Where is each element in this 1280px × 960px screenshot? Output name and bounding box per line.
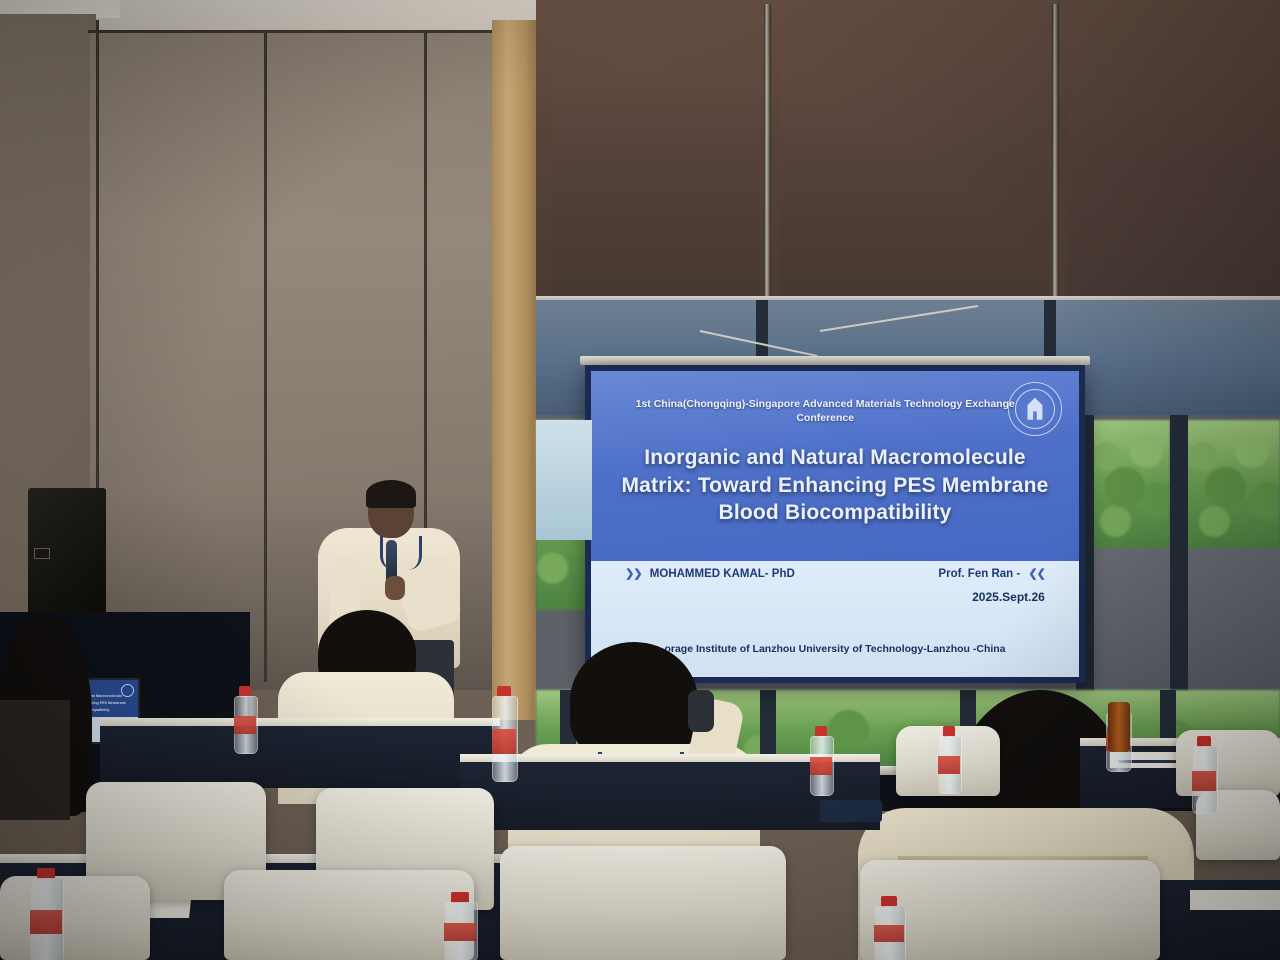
wood-column [492, 20, 538, 720]
table-row-back [100, 724, 500, 788]
foliage-view [1186, 420, 1280, 550]
speaker-lanyard [380, 536, 422, 570]
water-bottle [234, 686, 256, 752]
presentation-slide: 1st China(Chongqing)-Singapore Advanced … [591, 371, 1079, 677]
table-surface [100, 718, 500, 726]
supervisor-name: Prof. Fen Ran - [938, 568, 1020, 580]
speaker-hand [385, 576, 405, 600]
water-bottle [874, 896, 904, 960]
bottle-label [938, 756, 960, 773]
presenter-block: ❯❯ MOHAMMED KAMAL- PhD [625, 567, 795, 580]
slide-title-line2: Matrix: Toward Enhancing PES Membrane [611, 472, 1060, 499]
wall-seam [264, 32, 267, 682]
bottle-label [444, 923, 476, 941]
blind-rail [1052, 4, 1059, 304]
chair [500, 846, 786, 960]
presentation-date: 2025.Sept.26 [625, 590, 1045, 604]
bottle-label [30, 910, 62, 934]
roller-blind [780, 6, 1050, 302]
conference-header: 1st China(Chongqing)-Singapore Advanced … [630, 397, 1020, 425]
water-bottle [492, 686, 516, 780]
presenter-name: MOHAMMED KAMAL- PhD [650, 568, 795, 580]
slide-title-line3: Blood Biocompatibility [611, 499, 1060, 526]
slide-title-line1: Inorganic and Natural Macromolecule [611, 444, 1060, 471]
chevron-left-icon: ❮❮ [1028, 568, 1044, 580]
speaker-logo-icon [34, 548, 50, 559]
window-strip-left [536, 420, 592, 540]
screen-top-bar [580, 356, 1090, 365]
seal-emblem-icon [1027, 398, 1042, 420]
water-bottle [938, 726, 960, 792]
notepad [1190, 890, 1280, 910]
water-bottle [1192, 736, 1216, 812]
bottle-label [1192, 771, 1216, 791]
water-bottle [444, 892, 476, 960]
roller-blind [552, 6, 760, 302]
slide-credits: ❯❯ MOHAMMED KAMAL- PhD Prof. Fen Ran - ❮… [591, 567, 1079, 604]
attendee-center-hair [570, 642, 698, 760]
bottle-label [234, 716, 256, 733]
amber-bottle [1108, 702, 1130, 752]
attendee-left-body [0, 700, 70, 820]
wall-shading [90, 30, 540, 690]
attendee-center-phone [688, 690, 714, 732]
bottle-label [874, 925, 904, 942]
chevron-right-icon: ❯❯ [625, 568, 641, 580]
roller-blind [1068, 6, 1280, 302]
wall-panel-grey [1186, 548, 1280, 698]
conference-room-photo: 1st China(Chongqing)-Singapore Advanced … [0, 0, 1280, 960]
chair [224, 870, 474, 960]
slide-title: Inorganic and Natural Macromolecule Matr… [611, 444, 1060, 526]
water-bottle [810, 726, 832, 794]
water-bottle [30, 868, 62, 960]
projection-screen: 1st China(Chongqing)-Singapore Advanced … [585, 365, 1085, 683]
blind-rail [764, 4, 771, 304]
device-on-table [820, 800, 882, 822]
chair [0, 876, 150, 960]
credit-row: ❯❯ MOHAMMED KAMAL- PhD Prof. Fen Ran - ❮… [625, 567, 1045, 580]
supervisor-block: Prof. Fen Ran - ❮❮ [938, 567, 1044, 580]
laptop-seal-icon [121, 684, 134, 697]
speaker-hair [366, 480, 416, 508]
bottle-label [492, 729, 516, 753]
bottle-label [810, 757, 832, 775]
foliage-view [1092, 420, 1170, 550]
wall-seam-top [88, 30, 540, 33]
wall-panel-grey [1092, 548, 1170, 698]
